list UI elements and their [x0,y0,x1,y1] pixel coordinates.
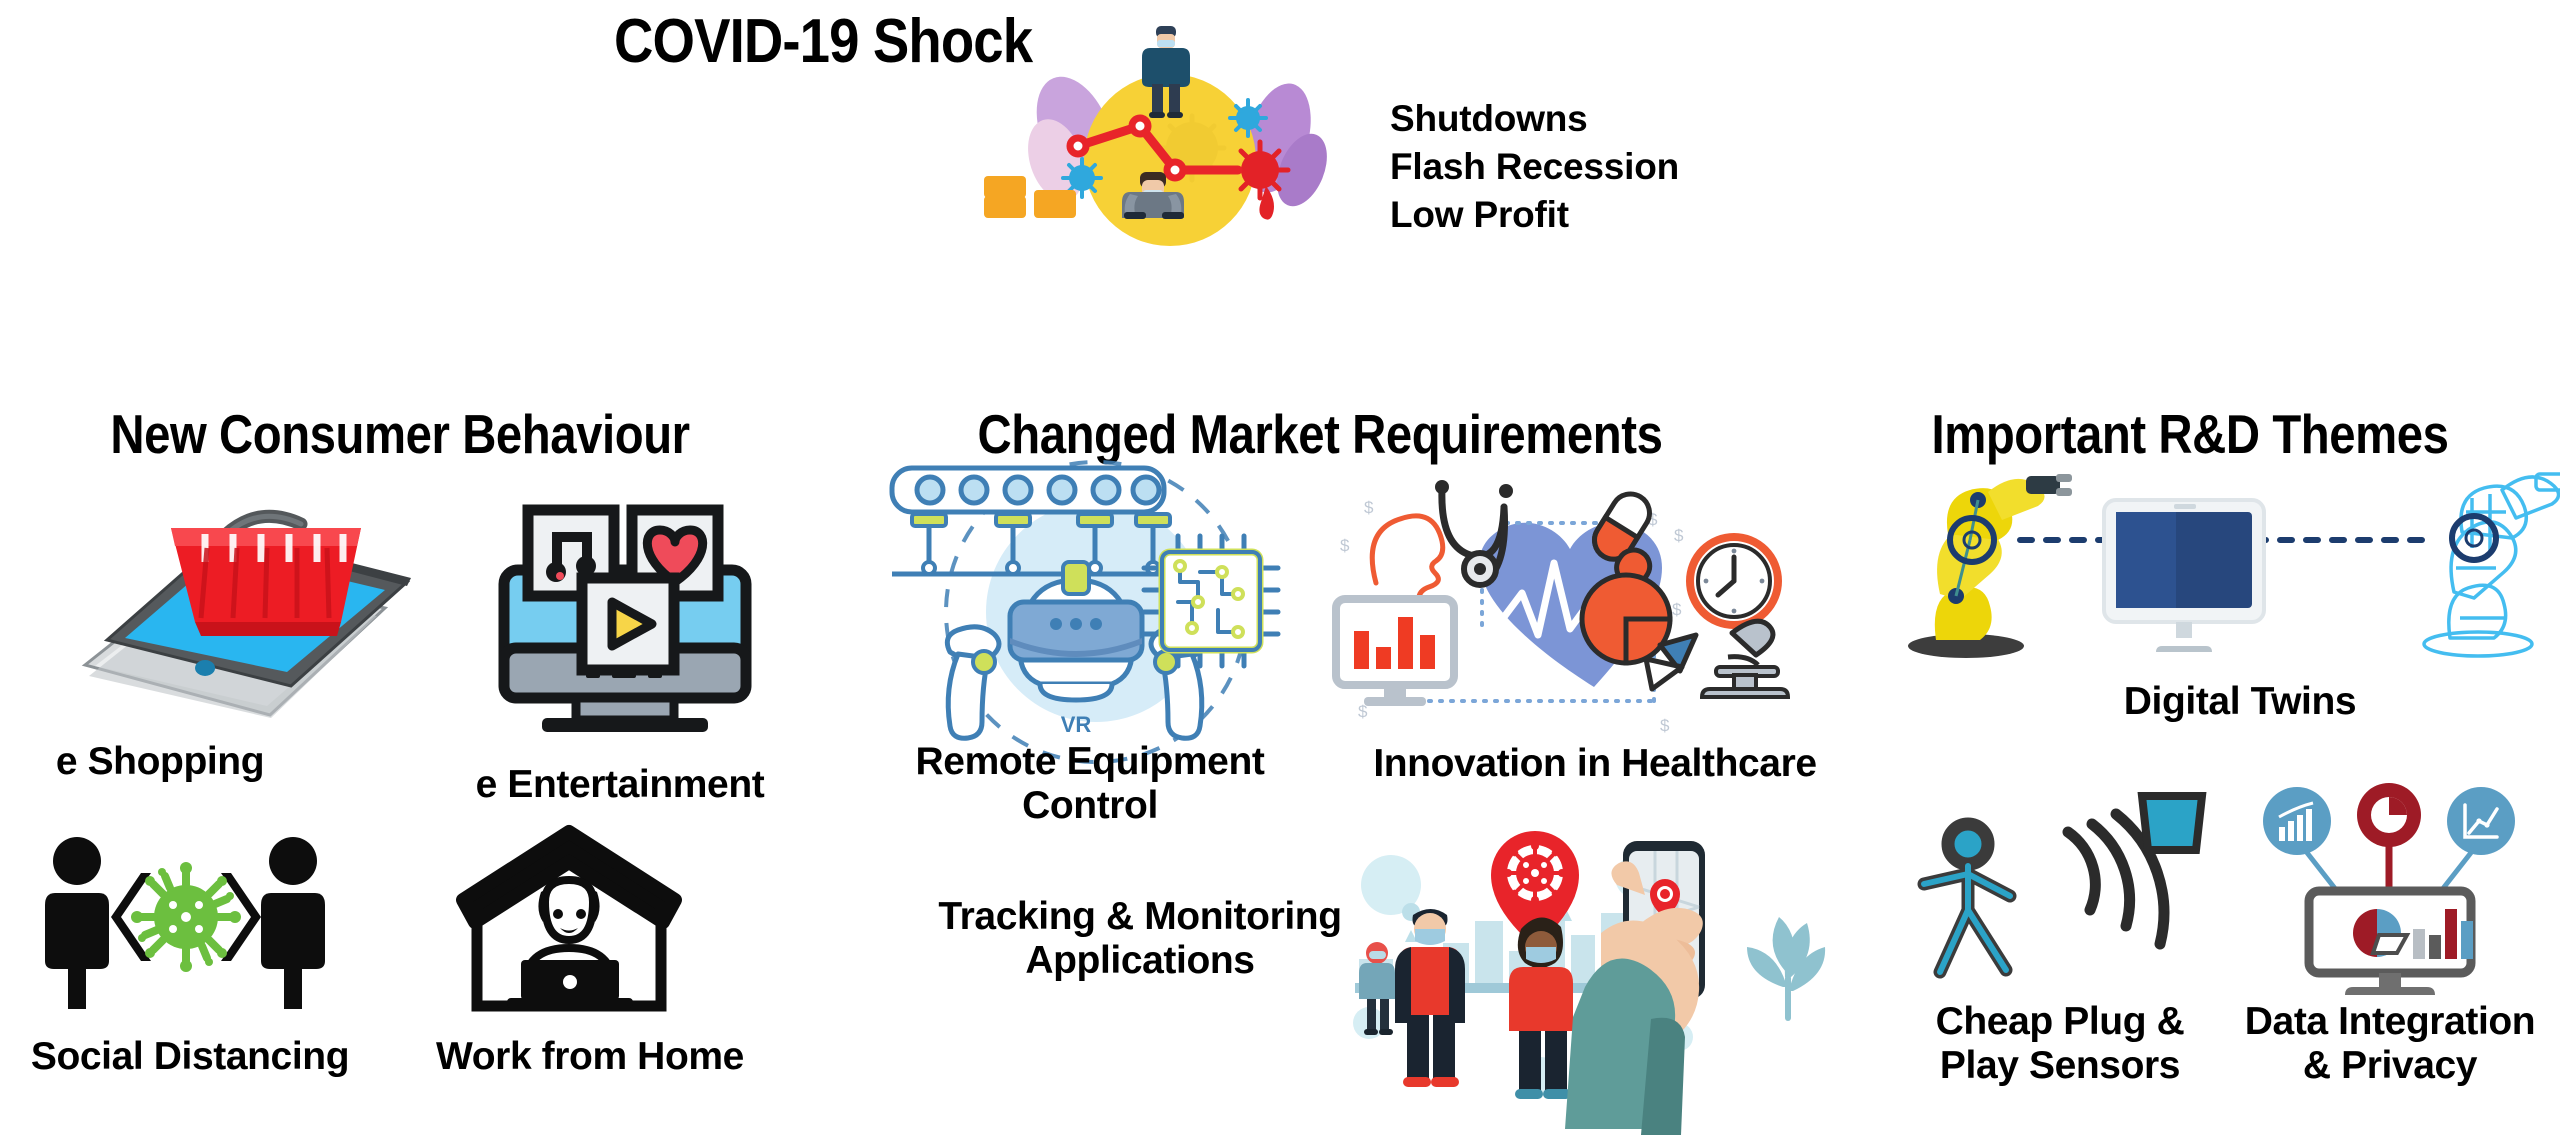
robot-arm-digital-twin-icon [1900,468,2560,678]
label-social-distancing: Social Distancing [0,1035,380,1079]
contact-tracing-phone-icon [1355,825,1825,1140]
label-line-1: Tracking & Monitoring [850,895,1430,939]
label-line-1: Remote Equipment [840,740,1340,784]
label-line-1: Cheap Plug & [1860,1000,2260,1044]
social-distancing-icon [25,835,345,1015]
monitor-media-icon [490,500,760,750]
label-line-2: & Privacy [2210,1044,2560,1088]
label-data-integration-privacy: Data Integration & Privacy [2210,1000,2560,1087]
label-line-2: Applications [850,939,1430,983]
section-heading-changed-market-requirements: Changed Market Requirements [924,402,1715,466]
label-e-entertainment: e Entertainment [440,763,800,807]
covid-shock-illustration [960,20,1360,220]
label-tracking-monitoring-applications: Tracking & Monitoring Applications [850,895,1430,982]
house-laptop-person-icon [455,830,685,1020]
label-work-from-home: Work from Home [420,1035,760,1079]
impact-item: Low Profit [1390,191,1679,239]
impact-list: Shutdowns Flash Recession Low Profit [1390,95,1679,239]
svg-text:$: $ [1674,526,1684,545]
data-dashboard-icon [2255,795,2525,1005]
label-line-2: Control [840,784,1340,828]
label-remote-equipment-control: Remote Equipment Control [840,740,1340,827]
vr-label: VR [1061,712,1092,737]
heart-healthcare-icon: $$ $$ $$ $$ [1330,475,1860,735]
svg-text:$: $ [1660,716,1670,735]
label-line-2: Play Sensors [1860,1044,2260,1088]
label-digital-twins: Digital Twins [2040,680,2440,724]
label-line-1: Data Integration [2210,1000,2560,1044]
svg-text:$: $ [1340,536,1350,555]
label-e-shopping: e Shopping [0,740,320,784]
label-cheap-plug-play-sensors: Cheap Plug & Play Sensors [1860,1000,2260,1087]
svg-text:$: $ [1364,498,1374,517]
shopping-basket-smartphone-icon [55,490,445,740]
section-heading-important-rnd-themes: Important R&D Themes [1872,402,2508,466]
vr-headset-chip-icon: VR [900,462,1340,752]
impact-item: Shutdowns [1390,95,1679,143]
svg-text:$: $ [1672,600,1682,619]
impact-item: Flash Recession [1390,143,1679,191]
motion-sensor-icon [1900,818,2230,1008]
label-innovation-in-healthcare: Innovation in Healthcare [1330,742,1860,786]
section-heading-new-consumer-behaviour: New Consumer Behaviour [56,402,744,466]
